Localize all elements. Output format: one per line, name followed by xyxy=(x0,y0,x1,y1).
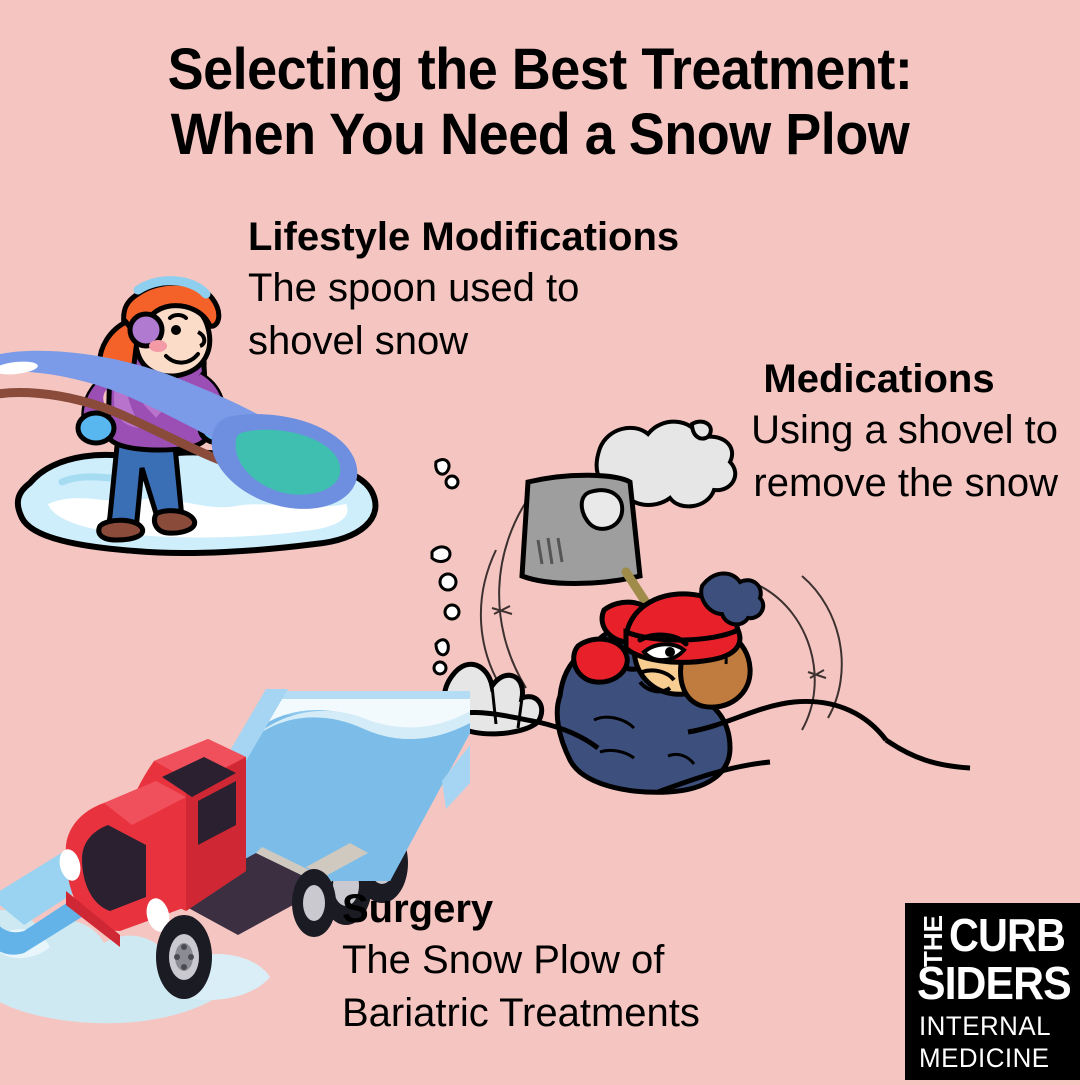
logo-text-curb: CURB xyxy=(949,912,1065,958)
callout-lifestyle-modifications: Lifestyle Modifications The spoon used t… xyxy=(248,216,679,368)
callout-surgery: Surgery The Snow Plow of Bariatric Treat… xyxy=(342,888,700,1040)
truck-front-wheel xyxy=(156,915,212,999)
page-title: Selecting the Best Treatment: When You N… xyxy=(38,38,1042,168)
man-head xyxy=(626,573,763,707)
snow-flecks xyxy=(432,460,459,674)
logo-text-siders: SIDERS xyxy=(917,960,1071,1006)
truck-mid-wheel xyxy=(292,869,336,937)
logo-text-internal: INTERNAL xyxy=(919,1013,1051,1040)
callout-body-lifestyle: The spoon used to shovel snow xyxy=(248,262,679,368)
callout-medications: Medications Using a shovel to remove the… xyxy=(700,358,1058,510)
callout-heading-surgery: Surgery xyxy=(342,888,700,930)
infographic-canvas: Selecting the Best Treatment: When You N… xyxy=(0,0,1080,1080)
callout-heading-medications: Medications xyxy=(700,358,1058,400)
callout-body-medications: Using a shovel to remove the snow xyxy=(700,404,1058,510)
callout-heading-lifestyle: Lifestyle Modifications xyxy=(248,216,679,258)
callout-body-surgery: The Snow Plow of Bariatric Treatments xyxy=(342,934,700,1040)
logo-row-curb: THE CURB xyxy=(917,915,1069,963)
logo-text-medicine: MEDICINE xyxy=(919,1045,1050,1072)
curbsiders-logo[interactable]: THE CURB SIDERS INTERNAL MEDICINE xyxy=(905,903,1080,1080)
